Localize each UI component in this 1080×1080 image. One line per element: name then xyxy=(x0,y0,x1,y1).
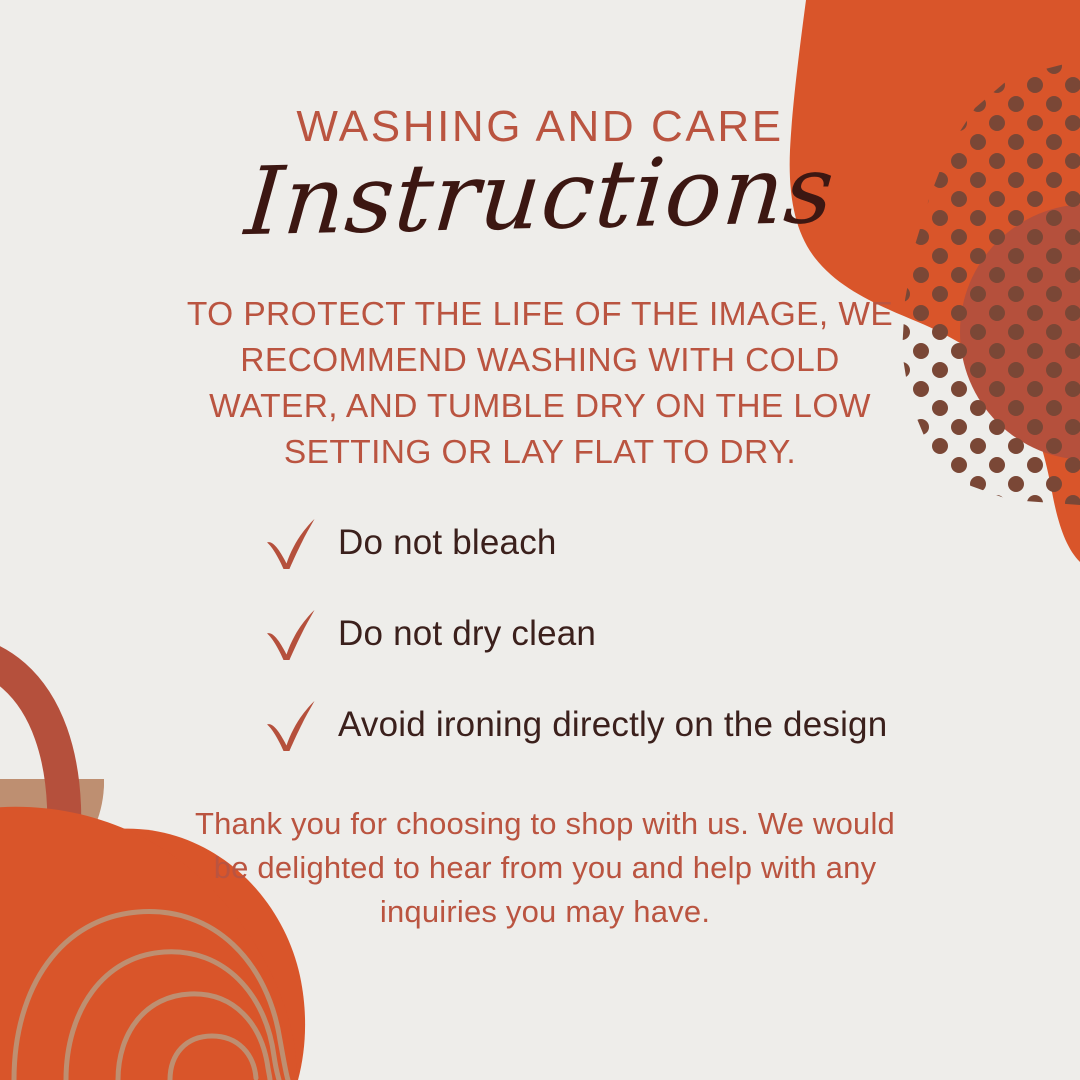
care-instructions-poster: WASHING AND CARE Instructions TO PROTECT… xyxy=(0,0,1080,1080)
intro-line: WATER, AND TUMBLE DRY ON THE LOW xyxy=(170,384,910,430)
intro-line: RECOMMEND WASHING WITH COLD xyxy=(170,338,910,384)
list-item: Do not bleach xyxy=(262,497,1002,588)
care-checklist: Do not bleach Do not dry clean Avoid iro… xyxy=(262,497,1002,770)
intro-line: SETTING OR LAY FLAT TO DRY. xyxy=(170,430,910,476)
checkmark-icon xyxy=(262,514,320,572)
checkmark-icon xyxy=(262,696,320,754)
list-item-label: Do not dry clean xyxy=(338,616,596,651)
title-block: WASHING AND CARE Instructions xyxy=(0,104,1080,249)
list-item: Do not dry clean xyxy=(262,588,1002,679)
poster-content: WASHING AND CARE Instructions TO PROTECT… xyxy=(0,0,1080,1080)
list-item-label: Avoid ironing directly on the design xyxy=(338,707,887,742)
page-title-script: Instructions xyxy=(0,133,1080,261)
footer-line: inquiries you may have. xyxy=(150,890,940,934)
intro-paragraph: TO PROTECT THE LIFE OF THE IMAGE, WE REC… xyxy=(170,292,910,476)
list-item-label: Do not bleach xyxy=(338,525,557,560)
intro-line: TO PROTECT THE LIFE OF THE IMAGE, WE xyxy=(170,292,910,338)
footer-note: Thank you for choosing to shop with us. … xyxy=(150,802,940,934)
checkmark-icon xyxy=(262,605,320,663)
list-item: Avoid ironing directly on the design xyxy=(262,679,1002,770)
footer-line: Thank you for choosing to shop with us. … xyxy=(150,802,940,846)
footer-line: be delighted to hear from you and help w… xyxy=(150,846,940,890)
